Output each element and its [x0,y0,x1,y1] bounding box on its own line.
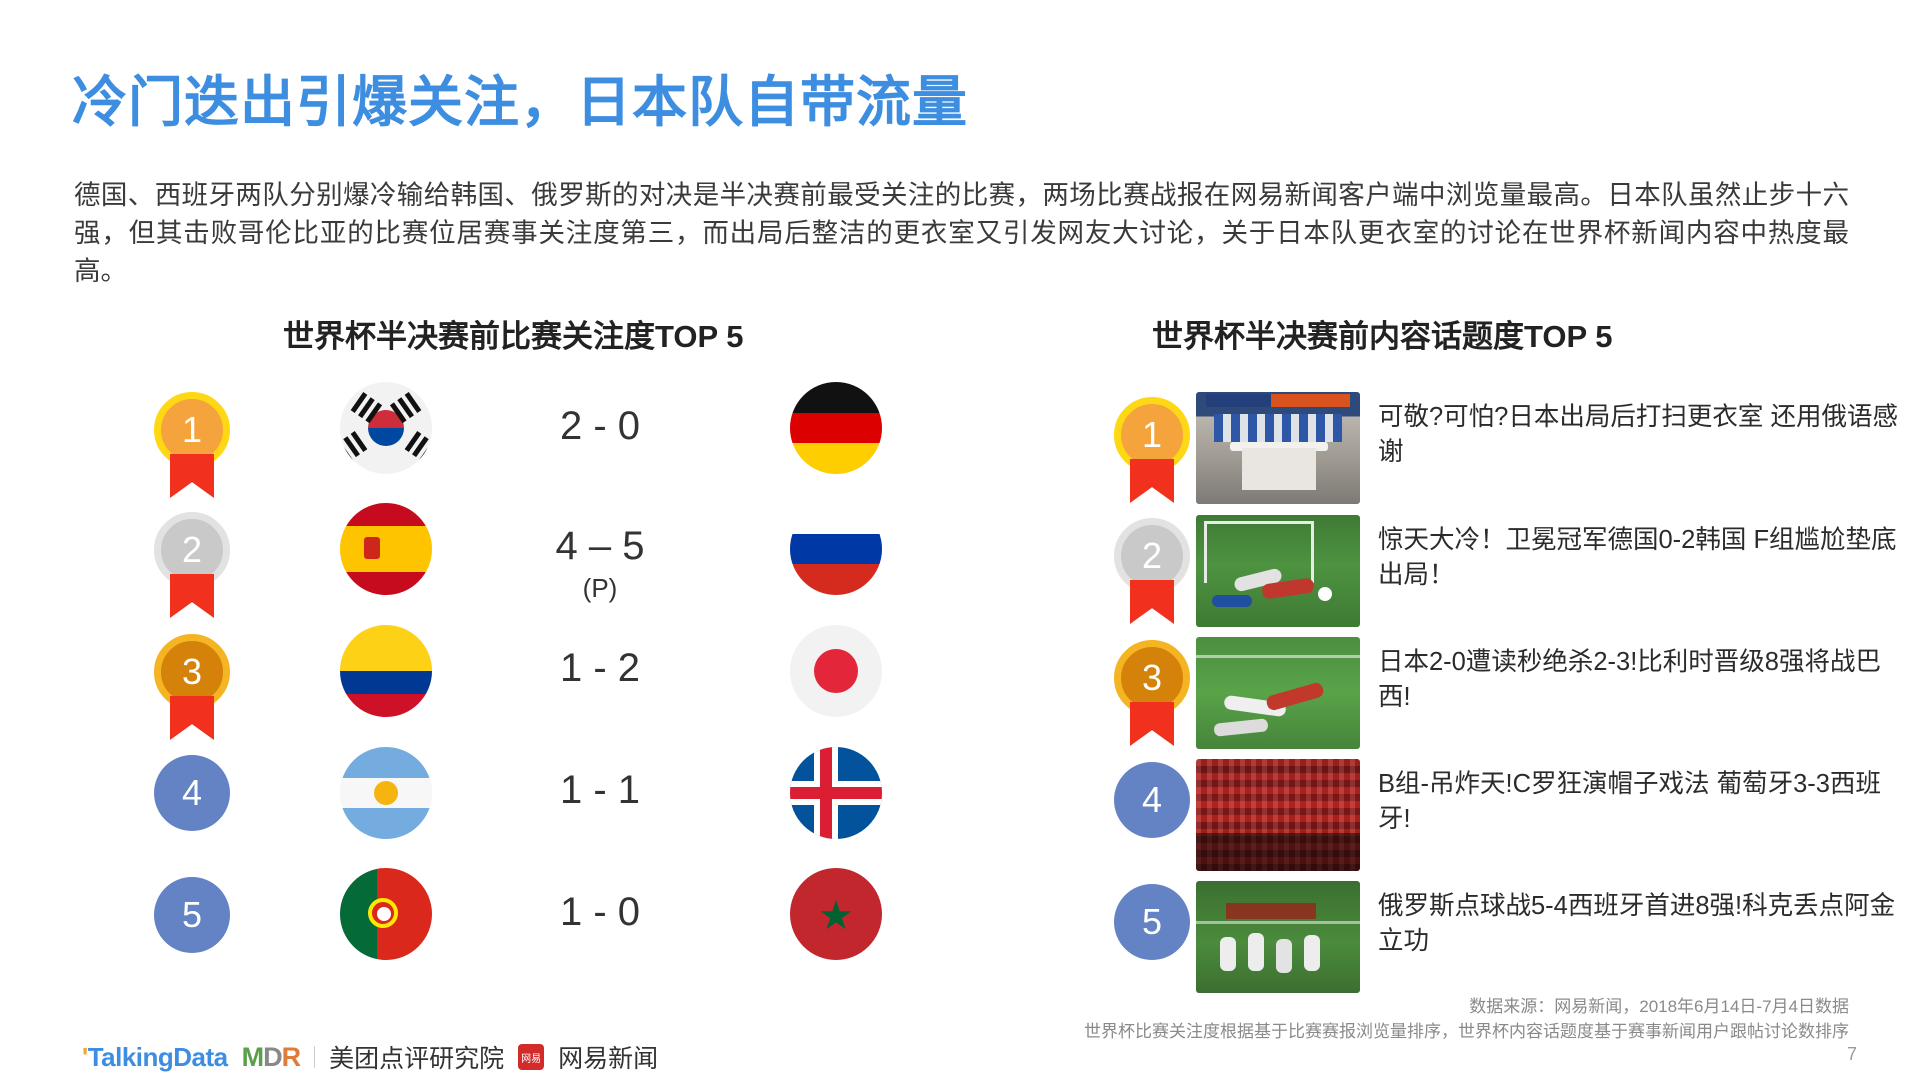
source-line-2: 世界杯比赛关注度根据基于比赛赛报浏览量排序，世界杯内容话题度基于赛事新闻用户跟帖… [1084,1019,1849,1044]
score-value: 2 - 0 [560,404,640,448]
rank-number: 4 [154,755,230,831]
rank-number: 5 [1114,884,1190,960]
news-rank-badge-5: 5 [1108,884,1196,992]
source-line-1: 数据来源：网易新闻，2018年6月14日-7月4日数据 [1084,994,1849,1019]
news-thumbnail-4[interactable] [1196,759,1360,871]
ribbon-icon [170,454,214,498]
news-thumbnail-5[interactable] [1196,881,1360,993]
netease-badge-icon: 网易 [518,1044,544,1070]
rank-badge-2: 2 [148,512,236,620]
footer-logos: 'TalkingData MDR 美团点评研究院 网易 网易新闻 [82,1039,658,1075]
flag-japan-icon [790,625,882,717]
ribbon-icon [170,574,214,618]
netease-news-label: 网易新闻 [558,1039,658,1075]
flag-iceland-icon [790,747,882,839]
rank-number: 4 [1114,762,1190,838]
news-rank-badge-2: 2 [1108,518,1196,626]
score-value: 1 - 1 [560,768,640,812]
talkingdata-logo: 'TalkingData [82,1042,228,1073]
intro-paragraph: 德国、西班牙两队分别爆冷输给韩国、俄罗斯的对决是半决赛前最受关注的比赛，两场比赛… [74,176,1849,290]
mdr-logo: MDR [242,1042,301,1073]
score-value: 1 - 0 [560,890,640,934]
news-title-1[interactable]: 可敬?可怕?日本出局后打扫更衣室 还用俄语感谢 [1378,400,1908,470]
score-row-4: 1 - 1 [490,768,710,813]
meituan-research-label: 美团点评研究院 [329,1039,504,1075]
flag-argentina-icon [340,747,432,839]
flag-portugal-icon [340,868,432,960]
flag-morocco-icon: ★ [790,868,882,960]
left-column-heading: 世界杯半决赛前比赛关注度TOP 5 [283,311,743,356]
score-row-3: 1 - 2 [490,646,710,691]
flag-spain-icon [340,503,432,595]
news-thumbnail-2[interactable] [1196,515,1360,627]
score-note: (P) [490,573,710,604]
score-value: 4 – 5 [556,524,645,568]
flag-russia-icon [790,503,882,595]
score-row-2: 4 – 5 (P) [490,524,710,604]
flag-colombia-icon [340,625,432,717]
rank-badge-5: 5 [148,877,236,985]
rank-badge-4: 4 [148,755,236,863]
score-row-1: 2 - 0 [490,404,710,449]
score-row-5: 1 - 0 [490,890,710,935]
news-title-3[interactable]: 日本2-0遭读秒绝杀2-3!比利时晋级8强将战巴西! [1378,645,1908,715]
news-rank-badge-1: 1 [1108,397,1196,505]
right-column-heading: 世界杯半决赛前内容话题度TOP 5 [1152,311,1612,356]
news-title-2[interactable]: 惊天大冷！卫冕冠军德国0-2韩国 F组尴尬垫底出局！ [1378,523,1908,593]
rank-badge-3: 3 [148,634,236,742]
rank-badge-1: 1 [148,392,236,500]
rank-number: 5 [154,877,230,953]
ribbon-icon [1130,459,1174,503]
news-title-4[interactable]: B组-吊炸天!C罗狂演帽子戏法 葡萄牙3-3西班牙! [1378,767,1908,837]
score-value: 1 - 2 [560,646,640,690]
ribbon-icon [1130,580,1174,624]
page-number: 7 [1847,1044,1857,1065]
news-thumbnail-3[interactable] [1196,637,1360,749]
source-note: 数据来源：网易新闻，2018年6月14日-7月4日数据 世界杯比赛关注度根据基于… [1084,994,1849,1044]
news-thumbnail-1[interactable] [1196,392,1360,504]
flag-south-korea-icon [340,382,432,474]
ribbon-icon [1130,702,1174,746]
ribbon-icon [170,696,214,740]
slide: 冷门迭出引爆关注，日本队自带流量 德国、西班牙两队分别爆冷输给韩国、俄罗斯的对决… [0,0,1921,1080]
news-rank-badge-3: 3 [1108,640,1196,748]
news-title-5[interactable]: 俄罗斯点球战5-4西班牙首进8强!科克丢点阿金立功 [1378,889,1908,959]
flag-germany-icon [790,382,882,474]
news-rank-badge-4: 4 [1108,762,1196,870]
logo-divider [314,1046,315,1068]
page-title: 冷门迭出引爆关注，日本队自带流量 [72,57,968,137]
